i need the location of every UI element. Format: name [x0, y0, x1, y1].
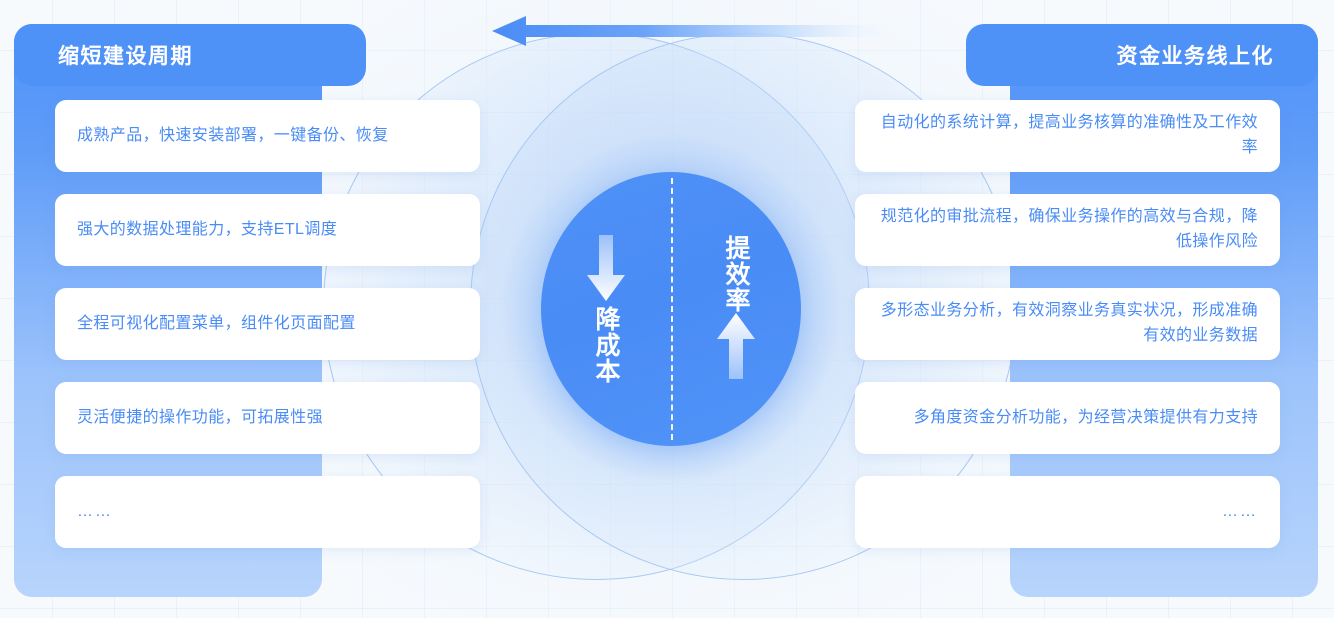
center-left-label: 降成本: [590, 306, 622, 384]
right-card-2[interactable]: 规范化的审批流程，确保业务操作的高效与合规，降低操作风险: [855, 194, 1280, 266]
down-arrow-icon: [587, 235, 625, 306]
center-lens: 降成本 提效率: [541, 172, 801, 446]
right-card-3[interactable]: 多形态业务分析，有效洞察业务真实状况，形成准确有效的业务数据: [855, 288, 1280, 360]
left-pointing-arrow-icon: [492, 16, 892, 46]
right-card-1-text: 自动化的系统计算，提高业务核算的准确性及工作效率: [875, 111, 1258, 161]
center-lens-right-half: 提效率: [671, 172, 801, 446]
left-card-1-text: 成熟产品，快速安装部署，一键备份、恢复: [77, 124, 389, 149]
left-card-3-text: 全程可视化配置菜单，组件化页面配置: [77, 312, 356, 337]
left-panel-header: 缩短建设周期: [14, 24, 366, 86]
left-card-4[interactable]: 灵活便捷的操作功能，可拓展性强: [55, 382, 480, 454]
right-card-4-text: 多角度资金分析功能，为经营决策提供有力支持: [914, 406, 1258, 431]
right-panel-title: 资金业务线上化: [1117, 40, 1275, 70]
left-card-1[interactable]: 成熟产品，快速安装部署，一键备份、恢复: [55, 100, 480, 172]
right-card-5[interactable]: ……: [855, 476, 1280, 548]
center-right-label: 提效率: [720, 235, 752, 313]
right-card-5-text: ……: [1222, 500, 1258, 525]
up-arrow-icon: [717, 313, 755, 384]
left-panel-title: 缩短建设周期: [58, 40, 193, 70]
left-card-4-text: 灵活便捷的操作功能，可拓展性强: [77, 406, 323, 431]
diagram-canvas: 缩短建设周期 成熟产品，快速安装部署，一键备份、恢复 强大的数据处理能力，支持E…: [0, 0, 1334, 618]
right-card-4[interactable]: 多角度资金分析功能，为经营决策提供有力支持: [855, 382, 1280, 454]
right-card-2-text: 规范化的审批流程，确保业务操作的高效与合规，降低操作风险: [875, 205, 1258, 255]
left-card-2[interactable]: 强大的数据处理能力，支持ETL调度: [55, 194, 480, 266]
right-card-3-text: 多形态业务分析，有效洞察业务真实状况，形成准确有效的业务数据: [875, 299, 1258, 349]
right-panel-header: 资金业务线上化: [966, 24, 1318, 86]
right-card-1[interactable]: 自动化的系统计算，提高业务核算的准确性及工作效率: [855, 100, 1280, 172]
left-card-5[interactable]: ……: [55, 476, 480, 548]
left-card-3[interactable]: 全程可视化配置菜单，组件化页面配置: [55, 288, 480, 360]
left-card-2-text: 强大的数据处理能力，支持ETL调度: [77, 218, 337, 243]
center-lens-left-half: 降成本: [541, 172, 671, 446]
left-card-5-text: ……: [77, 500, 113, 525]
